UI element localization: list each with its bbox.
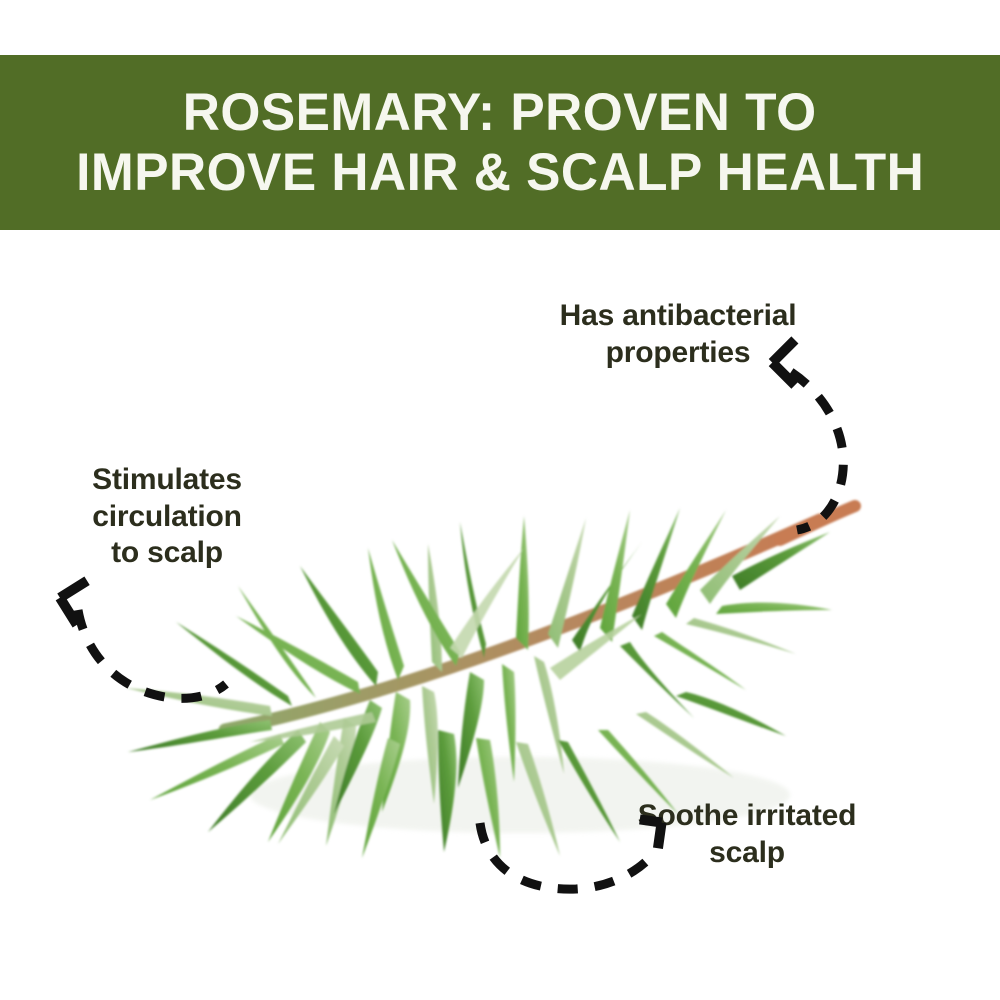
- infographic-canvas: ROSEMARY: PROVEN TO IMPROVE HAIR & SCALP…: [0, 0, 1000, 1000]
- arrow-soothe-icon: [460, 805, 670, 900]
- callout-circulation-text: Stimulates circulation to scalp: [48, 462, 286, 572]
- headline-line-2: IMPROVE HAIR & SCALP HEALTH: [76, 143, 924, 202]
- arrow-antibacterial-icon: [755, 330, 875, 540]
- header-banner: ROSEMARY: PROVEN TO IMPROVE HAIR & SCALP…: [0, 55, 1000, 230]
- arrow-circulation-icon: [50, 580, 230, 715]
- headline-line-1: ROSEMARY: PROVEN TO: [183, 83, 817, 142]
